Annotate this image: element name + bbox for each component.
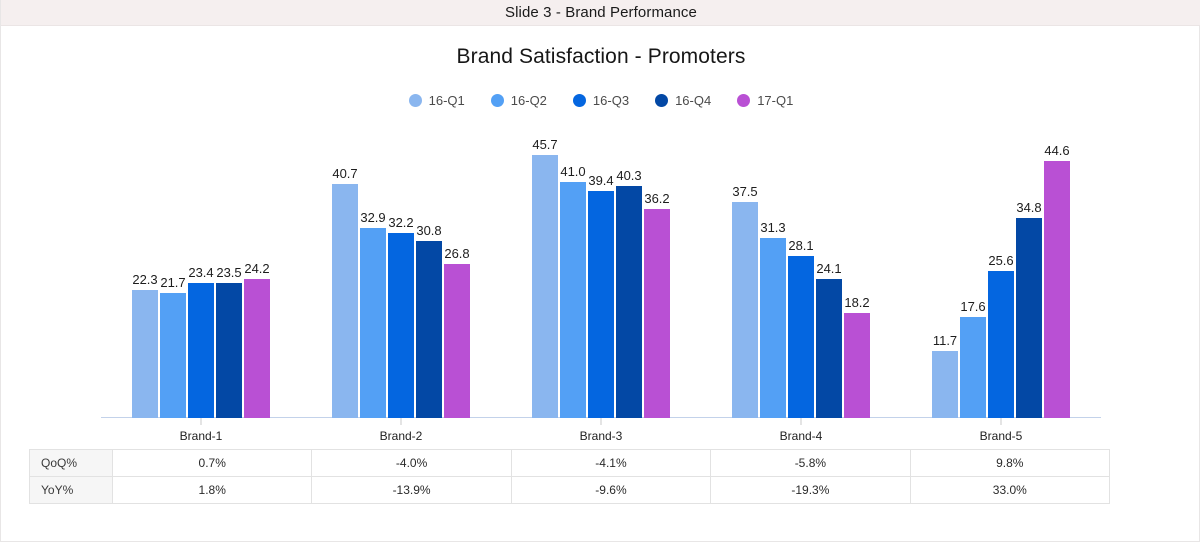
bar-value-label: 40.7 [332,166,357,181]
slide-canvas: Slide 3 - Brand Performance Brand Satisf… [0,0,1200,542]
bar-column[interactable]: 39.4 [588,130,614,418]
bar[interactable] [960,317,986,418]
bar[interactable] [560,182,586,418]
bar-value-label: 41.0 [560,164,585,179]
bar-column[interactable]: 23.4 [188,130,214,418]
table-cell: 0.7% [113,450,312,477]
table-cell: 1.8% [113,477,312,504]
bar-group-bars: 40.732.932.230.826.8 [301,130,501,418]
bar-value-label: 28.1 [788,238,813,253]
bar-value-label: 24.2 [244,261,269,276]
bar-group-bars: 37.531.328.124.118.2 [701,130,901,418]
bar-value-label: 11.7 [933,333,957,348]
x-axis-category-label: Brand-2 [380,429,423,443]
bar[interactable] [588,191,614,418]
bar-group: 22.321.723.423.524.2Brand-1 [101,130,301,418]
bar-group: 11.717.625.634.844.6Brand-5 [901,130,1101,418]
x-axis-tick [201,418,202,425]
bar-column[interactable]: 17.6 [960,130,986,418]
bar-value-label: 21.7 [160,275,185,290]
bar-column[interactable]: 36.2 [644,130,670,418]
bar[interactable] [1016,218,1042,418]
bar[interactable] [732,202,758,418]
chart-plot-area: 22.321.723.423.524.2Brand-140.732.932.23… [101,130,1101,418]
slide-header-title: Slide 3 - Brand Performance [505,4,697,21]
bar-value-label: 23.4 [188,265,213,280]
bar[interactable] [844,313,870,418]
bar-column[interactable]: 40.3 [616,130,642,418]
bar-column[interactable]: 25.6 [988,130,1014,418]
legend-swatch-icon [573,94,586,107]
legend-item-label: 16-Q3 [593,93,629,108]
bar-column[interactable]: 31.3 [760,130,786,418]
bar[interactable] [188,283,214,418]
x-axis-category-label: Brand-1 [180,429,223,443]
bar-group-bars: 22.321.723.423.524.2 [101,130,301,418]
table-cell: -5.8% [711,450,910,477]
x-axis-category-label: Brand-5 [980,429,1023,443]
bar-column[interactable]: 21.7 [160,130,186,418]
bar-column[interactable]: 28.1 [788,130,814,418]
bar[interactable] [444,264,470,418]
bar-value-label: 32.2 [388,215,413,230]
bar-value-label: 32.9 [360,210,385,225]
bar-group-bars: 45.741.039.440.336.2 [501,130,701,418]
legend-item-label: 16-Q4 [675,93,711,108]
bar-value-label: 23.5 [216,265,241,280]
bar[interactable] [644,209,670,418]
table-cell: -4.1% [511,450,710,477]
legend-swatch-icon [409,94,422,107]
bar-value-label: 25.6 [988,253,1013,268]
bar-column[interactable]: 23.5 [216,130,242,418]
bar-value-label: 45.7 [532,137,557,152]
bar-column[interactable]: 37.5 [732,130,758,418]
table-cell: -4.0% [312,450,511,477]
bar-column[interactable]: 32.9 [360,130,386,418]
table-row: QoQ%0.7%-4.0%-4.1%-5.8%9.8% [30,450,1110,477]
legend-item-16-q1[interactable]: 16-Q1 [409,93,465,108]
legend-swatch-icon [491,94,504,107]
bar-group: 40.732.932.230.826.8Brand-2 [301,130,501,418]
x-axis-tick [1001,418,1002,425]
bar[interactable] [160,293,186,418]
x-axis-tick [401,418,402,425]
delta-metrics-table: QoQ%0.7%-4.0%-4.1%-5.8%9.8%YoY%1.8%-13.9… [29,449,1110,504]
bar-group-bars: 11.717.625.634.844.6 [901,130,1101,418]
legend-item-16-q3[interactable]: 16-Q3 [573,93,629,108]
bar-group: 37.531.328.124.118.2Brand-4 [701,130,901,418]
legend-item-label: 16-Q1 [429,93,465,108]
bar-value-label: 34.8 [1016,200,1041,215]
bar-value-label: 24.1 [816,261,841,276]
bar[interactable] [616,186,642,418]
bar-value-label: 36.2 [644,191,669,206]
bar[interactable] [788,256,814,418]
bar-value-label: 39.4 [588,173,613,188]
legend-item-16-q4[interactable]: 16-Q4 [655,93,711,108]
legend-swatch-icon [737,94,750,107]
bar-column[interactable]: 30.8 [416,130,442,418]
bar[interactable] [132,290,158,418]
table-row: YoY%1.8%-13.9%-9.6%-19.3%33.0% [30,477,1110,504]
table-cell: 33.0% [910,477,1109,504]
bar-group: 45.741.039.440.336.2Brand-3 [501,130,701,418]
bar-value-label: 26.8 [444,246,469,261]
x-axis-tick [801,418,802,425]
bar-value-label: 44.6 [1044,143,1069,158]
table-cell: -19.3% [711,477,910,504]
bar-column[interactable]: 32.2 [388,130,414,418]
bar-value-label: 37.5 [732,184,757,199]
bar-value-label: 40.3 [616,168,641,183]
x-axis-category-label: Brand-4 [780,429,823,443]
table-cell: -13.9% [312,477,511,504]
bar-column[interactable]: 22.3 [132,130,158,418]
bar-column[interactable]: 18.2 [844,130,870,418]
bar[interactable] [416,241,442,418]
bar-value-label: 17.6 [960,299,985,314]
bar-column[interactable]: 40.7 [332,130,358,418]
bar[interactable] [932,351,958,418]
x-axis-category-label: Brand-3 [580,429,623,443]
bar[interactable] [244,279,270,418]
legend-swatch-icon [655,94,668,107]
table-cell: 9.8% [910,450,1109,477]
chart-title: Brand Satisfaction - Promoters [1,45,1200,69]
legend-item-label: 17-Q1 [757,93,793,108]
bar-column[interactable]: 41.0 [560,130,586,418]
bar[interactable] [360,228,386,418]
slide-header-bar: Slide 3 - Brand Performance [1,0,1200,26]
chart-legend: 16-Q116-Q216-Q316-Q417-Q1 [1,93,1200,108]
legend-item-label: 16-Q2 [511,93,547,108]
legend-item-16-q2[interactable]: 16-Q2 [491,93,547,108]
legend-item-17-q1[interactable]: 17-Q1 [737,93,793,108]
bar[interactable] [216,283,242,418]
table-cell: -9.6% [511,477,710,504]
bar-column[interactable]: 44.6 [1044,130,1070,418]
bar-column[interactable]: 26.8 [444,130,470,418]
bar-value-label: 30.8 [416,223,441,238]
bar-value-label: 22.3 [132,272,157,287]
x-axis-tick [601,418,602,425]
bar-column[interactable]: 24.1 [816,130,842,418]
bar-column[interactable]: 45.7 [532,130,558,418]
table-row-header: YoY% [30,477,113,504]
bar[interactable] [1044,161,1070,418]
bar-column[interactable]: 34.8 [1016,130,1042,418]
bar[interactable] [532,155,558,418]
bar[interactable] [816,279,842,418]
bar-column[interactable]: 11.7 [932,130,958,418]
bar[interactable] [988,271,1014,418]
bar[interactable] [760,238,786,418]
bar-column[interactable]: 24.2 [244,130,270,418]
bar[interactable] [332,184,358,418]
table-row-header: QoQ% [30,450,113,477]
delta-table-body: QoQ%0.7%-4.0%-4.1%-5.8%9.8%YoY%1.8%-13.9… [30,450,1110,504]
bar-value-label: 18.2 [844,295,869,310]
bar-value-label: 31.3 [760,220,785,235]
bar[interactable] [388,233,414,418]
